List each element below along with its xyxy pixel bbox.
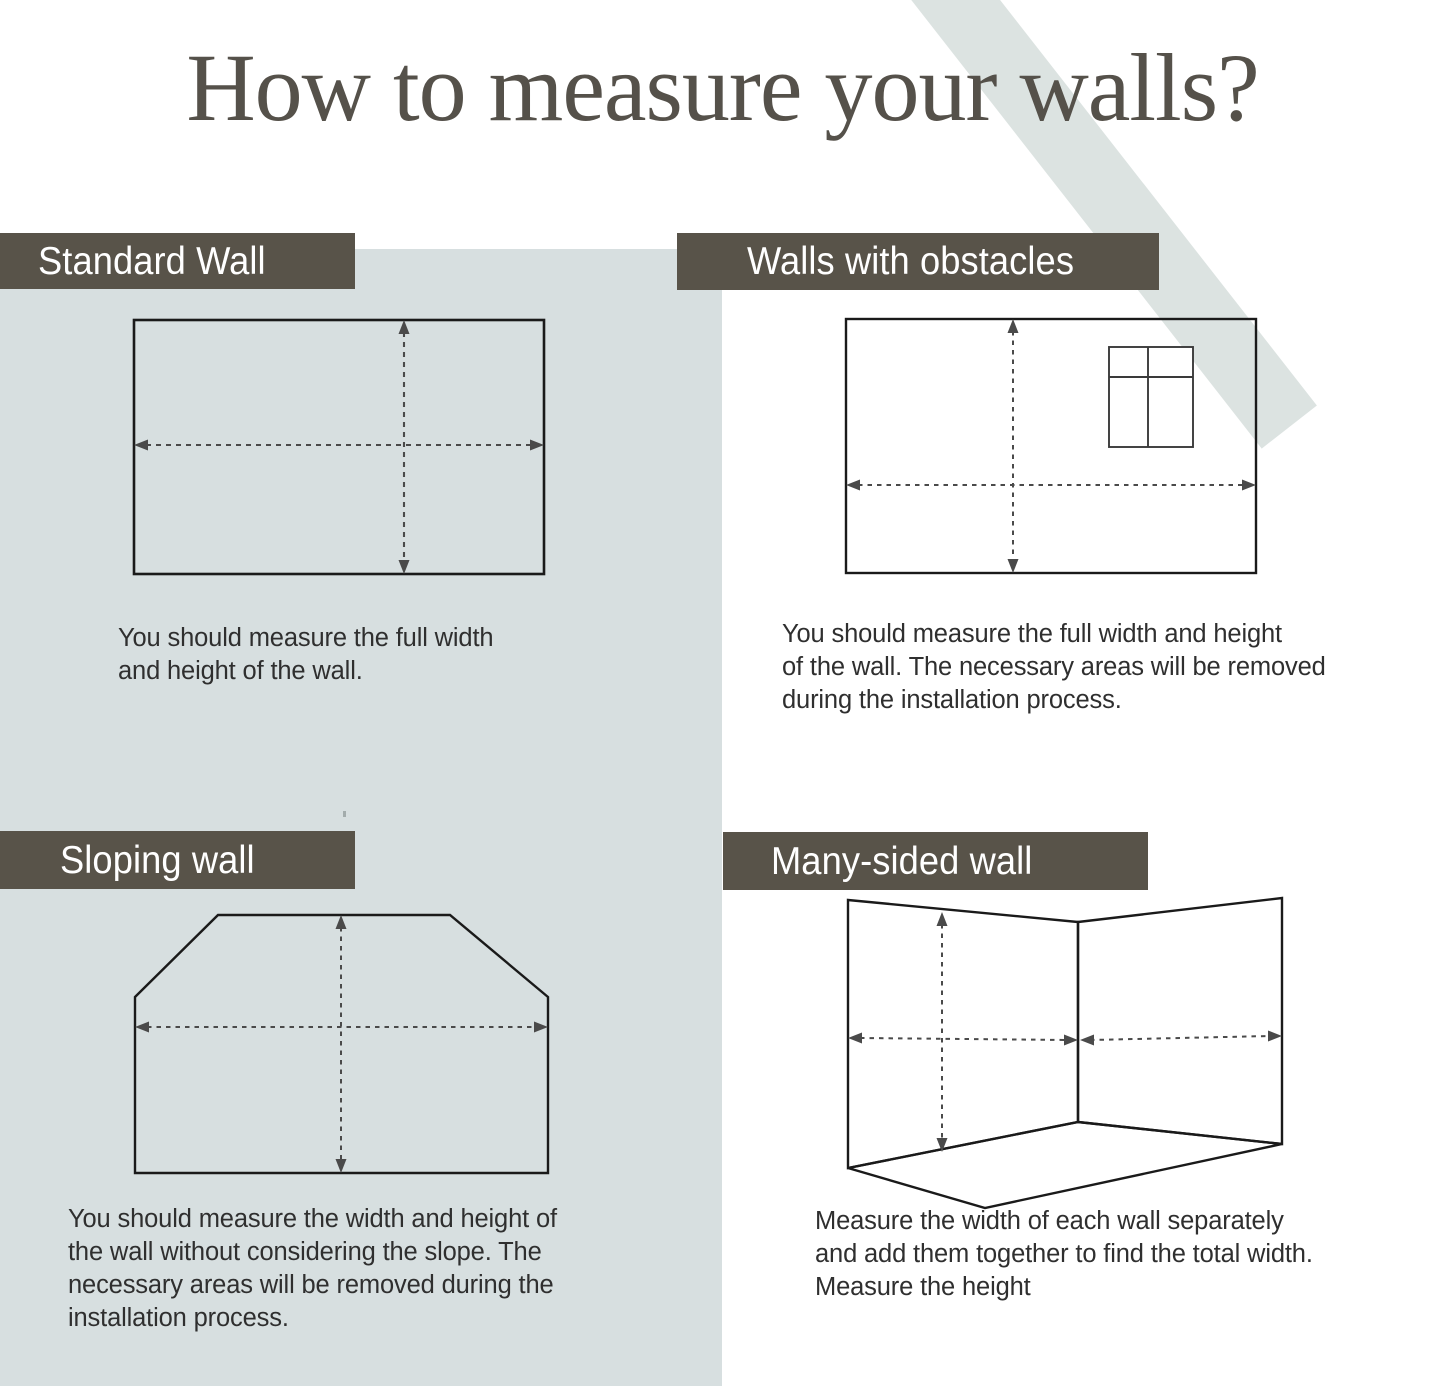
wall-outline-rect bbox=[846, 319, 1256, 573]
panel-header-sloping-wall: Sloping wall bbox=[0, 831, 355, 889]
width-arrow-head-left bbox=[134, 440, 148, 451]
wall-right-panel bbox=[1078, 898, 1282, 1144]
height-arrow-head-top bbox=[399, 320, 410, 334]
height-arrow-head-top bbox=[336, 915, 347, 929]
height-arrow-head-top bbox=[937, 912, 948, 926]
width-right-arrow-head-end bbox=[1268, 1031, 1282, 1042]
wall-outline-rect bbox=[134, 320, 544, 574]
panel-header-many-sided-wall: Many-sided wall bbox=[723, 832, 1148, 890]
height-arrow-head-bottom bbox=[1008, 559, 1019, 573]
width-left-measure-arrow bbox=[860, 1038, 1068, 1040]
page-title: How to measure your walls? bbox=[0, 36, 1445, 140]
panel-header-walls-with-obstacles: Walls with obstacles bbox=[677, 233, 1159, 290]
height-arrow-head-top bbox=[1008, 319, 1019, 333]
panel-header-label: Walls with obstacles bbox=[747, 242, 1074, 281]
width-right-arrow-head-start bbox=[1080, 1035, 1094, 1046]
width-left-arrow-head-end bbox=[1064, 1035, 1078, 1046]
diagram-walls-with-obstacles bbox=[820, 295, 1300, 605]
floor-panel bbox=[848, 1122, 1282, 1208]
panel-header-standard-wall: Standard Wall bbox=[0, 233, 355, 289]
diagram-sloping-wall bbox=[105, 895, 575, 1195]
caption-sloping-wall: You should measure the width and height … bbox=[68, 1203, 648, 1336]
panel-header-label: Many-sided wall bbox=[771, 842, 1032, 881]
diagram-standard-wall bbox=[110, 300, 580, 600]
infographic-root: How to measure your walls? Standard Wall… bbox=[0, 0, 1445, 1386]
caption-many-sided-wall: Measure the width of each wall separatel… bbox=[815, 1205, 1415, 1304]
window-frame bbox=[1109, 347, 1193, 447]
caption-walls-with-obstacles: You should measure the full width and he… bbox=[782, 618, 1407, 717]
height-arrow-head-bottom bbox=[336, 1159, 347, 1173]
width-right-measure-arrow bbox=[1090, 1036, 1270, 1040]
width-arrow-head-left bbox=[846, 480, 860, 491]
width-left-arrow-head-start bbox=[848, 1033, 862, 1044]
width-arrow-head-right bbox=[534, 1022, 548, 1033]
panel-header-label: Sloping wall bbox=[60, 841, 255, 880]
page-title-text: How to measure your walls? bbox=[186, 36, 1258, 140]
stray-speck bbox=[343, 811, 346, 817]
width-arrow-head-right bbox=[1242, 480, 1256, 491]
panel-header-label: Standard Wall bbox=[38, 242, 266, 281]
height-arrow-head-bottom bbox=[399, 560, 410, 574]
width-arrow-head-right bbox=[530, 440, 544, 451]
width-arrow-head-left bbox=[135, 1022, 149, 1033]
caption-standard-wall: You should measure the full width and he… bbox=[118, 622, 638, 688]
diagram-many-sided-wall bbox=[830, 890, 1300, 1210]
window-obstacle bbox=[1109, 347, 1193, 447]
